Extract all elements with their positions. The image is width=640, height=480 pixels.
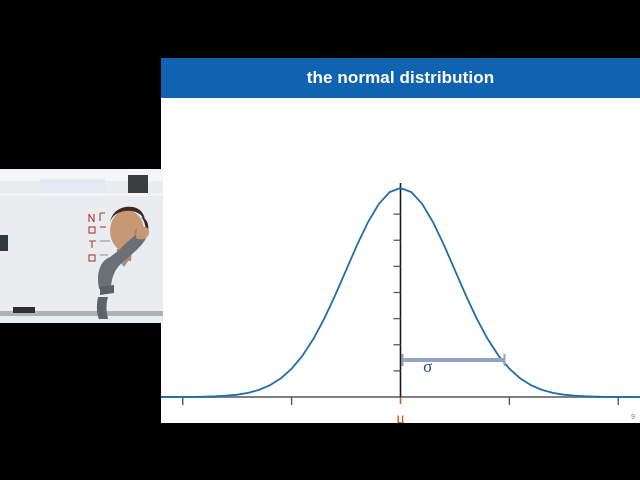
slide-page-number: 9: [631, 414, 635, 421]
presentation-slide: the normal distribution: [161, 58, 640, 423]
letterbox-top: [0, 0, 640, 30]
webcam-video-feed: [0, 169, 163, 323]
letterbox-bottom: [0, 423, 640, 480]
webcam-overlay[interactable]: [0, 169, 163, 323]
sigma-label: σ: [423, 357, 432, 376]
normal-distribution-chart: σ μ: [161, 98, 640, 423]
sigma-span: [402, 354, 505, 366]
slide-title-bar: the normal distribution: [161, 58, 640, 98]
video-frame: the normal distribution: [0, 0, 640, 480]
mean-label: μ: [396, 410, 405, 423]
page-title: the normal distribution: [307, 68, 494, 88]
slide-body: σ μ 9: [161, 98, 640, 423]
y-axis-ticks: [394, 214, 401, 371]
